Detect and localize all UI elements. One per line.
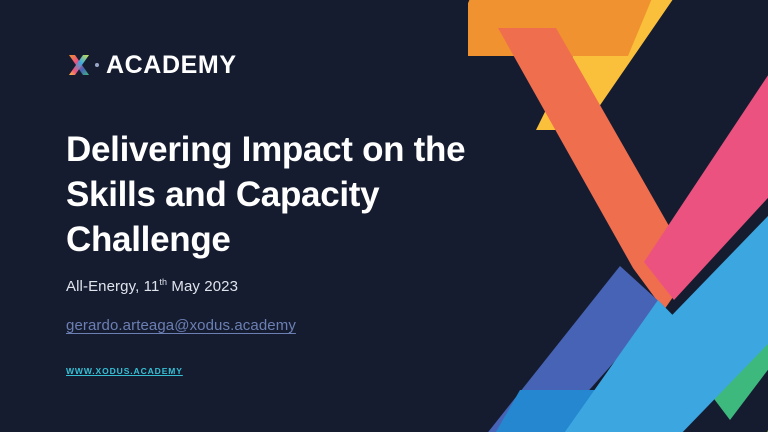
presentation-slide: ACADEMY Delivering Impact on the Skills … — [0, 0, 768, 432]
art-shape-indigo — [468, 266, 664, 432]
art-shape-sky-blue-lower — [538, 300, 728, 432]
art-shape-pink — [644, 30, 768, 300]
art-shape-orange — [468, 0, 668, 56]
contact-email-link[interactable]: gerardo.arteaga@xodus.academy — [66, 317, 296, 334]
logo-wordmark: ACADEMY — [106, 53, 237, 78]
art-shape-azure — [474, 390, 658, 432]
logo-separator-dot — [95, 63, 99, 67]
art-shape-green — [674, 180, 768, 420]
art-shape-sky-blue — [588, 216, 768, 432]
website-link[interactable]: WWW.XODUS.ACADEMY — [66, 366, 183, 376]
slide-title: Delivering Impact on the Skills and Capa… — [66, 128, 546, 262]
x-gradient-mark-icon — [66, 52, 92, 78]
subtitle-ordinal: th — [159, 277, 167, 287]
art-shape-lime — [756, 330, 768, 432]
slide-subtitle: All-Energy, 11th May 2023 — [66, 278, 238, 295]
subtitle-prefix: All-Energy, 11 — [66, 278, 159, 295]
subtitle-suffix: May 2023 — [167, 278, 238, 295]
art-shape-yellow — [536, 0, 700, 130]
brand-logo[interactable]: ACADEMY — [66, 47, 237, 83]
